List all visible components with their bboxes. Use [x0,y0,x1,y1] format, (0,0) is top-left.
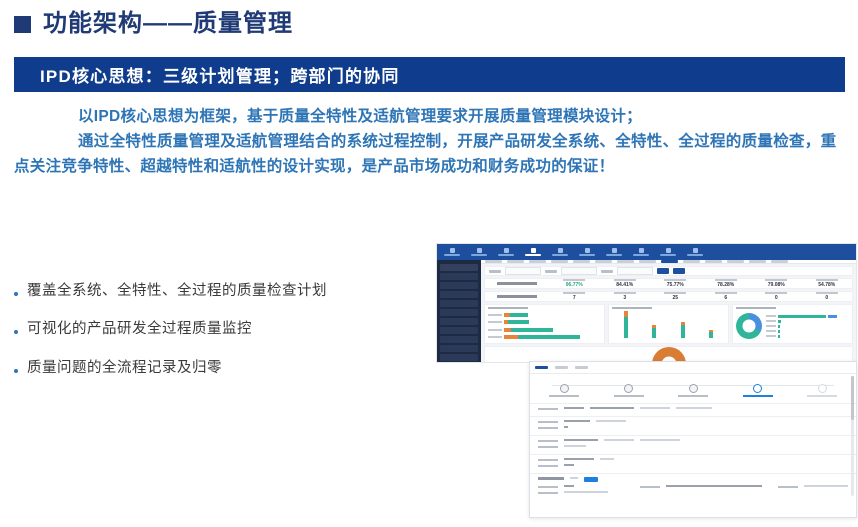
sidebar-item [440,318,478,325]
bar-row [488,320,601,324]
bar [624,311,628,338]
dashboard-top-nav [437,244,856,260]
bullet-dot-icon [14,330,18,334]
dashboard-body: 96.77% 84.41% 75.77% 78.28% 79.08% 54.78… [437,260,856,362]
stepper-step-current [732,384,784,397]
detail-row [538,491,848,494]
paragraph-line-1: 以IPD核心思想为框架，基于质量全特性及适航管理要求开展质量管理模块设计； [14,104,844,129]
filter-input [561,267,597,275]
kpi-cell: 6 [701,292,752,301]
detail-row [538,420,848,423]
detail-row [538,464,848,467]
step-dot-icon [753,384,762,393]
kpi-value: 0 [775,296,778,301]
kpi-value: 96.77% [566,283,583,288]
filter-input [617,267,653,275]
stepper-step [667,384,719,397]
step-dot-icon [560,384,569,393]
kpi-row-title [485,282,549,285]
top-nav-item [628,245,654,259]
section-banner: IPD核心思想：三级计划管理；跨部门的协同 [14,57,845,92]
filter-input [505,267,541,275]
dashboard-filter-bar [484,266,853,276]
top-nav-item [547,245,573,259]
kpi-cell: 75.77% [650,279,701,288]
dashboard-tab-active [661,260,678,263]
sidebar-item [440,291,478,298]
detail-section [530,416,856,435]
detail-section [530,403,856,416]
mini-bar-chart [766,315,849,338]
detail-section [530,454,856,473]
kpi-value: 6 [724,296,727,301]
sidebar-item [440,345,478,352]
kpi-cell: 25 [650,292,701,301]
detail-section [530,435,856,454]
detail-tab-bar [530,362,856,374]
kpi-cell: 54.78% [802,279,853,288]
kpi-row-rate: 96.77% 84.41% 75.77% 78.28% 79.08% 54.78… [484,278,853,289]
page-title-text: 功能架构——质量管理 [43,12,293,36]
list-item: 质量问题的全流程记录及归零 [14,360,434,377]
top-nav-item [655,245,681,259]
kpi-cell: 78.28% [701,279,752,288]
chart-title [488,307,528,309]
bar-row [766,320,849,323]
submit-button [584,477,598,482]
bar-row [766,335,849,338]
detail-tab-active [535,366,548,369]
list-item: 可视化的产品研发全过程质量监控 [14,321,434,338]
sidebar-item [440,336,478,343]
step-dot-icon [624,384,633,393]
top-nav-item-active [520,245,546,259]
kpi-value: 7 [573,296,576,301]
kpi-value: 75.77% [667,283,684,288]
donut-chart-panel [732,304,853,344]
bar-row [488,313,601,317]
list-item-label: 可视化的产品研发全过程质量监控 [27,321,252,338]
sidebar-item [440,282,478,289]
kpi-cell: 96.77% [549,279,600,288]
stepper-step [796,384,848,397]
detail-row [538,458,848,461]
search-button [657,268,669,274]
bar [681,322,685,338]
detail-section-comments [530,473,856,500]
bullet-dot-icon [14,369,18,373]
page-title: 功能架构——质量管理 [14,12,293,36]
detail-panel-scrollbar[interactable] [851,376,854,496]
kpi-cell: 0 [751,292,802,301]
kpi-row-title [485,295,549,298]
kpi-value: 79.08% [768,283,785,288]
top-nav-item [601,245,627,259]
bar [652,325,656,338]
top-nav-item [439,245,465,259]
kpi-cell: 79.08% [751,279,802,288]
chart-title [736,307,776,309]
slide-root: 功能架构——质量管理 IPD核心思想：三级计划管理；跨部门的协同 以IPD核心思… [0,0,858,527]
reset-button [673,268,685,274]
sidebar-item [440,354,478,361]
detail-row [538,407,848,410]
dashboard-screenshot: 96.77% 84.41% 75.77% 78.28% 79.08% 54.78… [436,243,857,363]
detail-row [538,477,848,482]
detail-row [538,439,848,442]
horizontal-stacked-bar-chart [484,304,605,344]
kpi-value: 3 [623,296,626,301]
kpi-value: 84.41% [616,283,633,288]
bar-row [488,328,601,332]
stepper-step [603,384,655,397]
detail-row [538,485,848,488]
bar [709,330,713,338]
bar-row [766,325,849,328]
kpi-cell: 3 [600,292,651,301]
kpi-value: 0 [825,296,828,301]
section-banner-text: IPD核心思想：三级计划管理；跨部门的协同 [40,62,400,87]
sidebar-item [440,264,478,271]
sidebar-item [440,309,478,316]
top-nav-item [466,245,492,259]
bullet-dot-icon [14,292,18,296]
sidebar-item [440,327,478,334]
donut-chart [736,313,762,339]
detail-tab [575,366,588,369]
dashboard-sidebar [437,260,481,362]
top-nav-item [574,245,600,259]
kpi-cell: 7 [549,292,600,301]
kpi-value: 78.28% [717,283,734,288]
vertical-bar-chart [608,304,729,344]
bar-row [488,335,601,339]
dashboard-main: 96.77% 84.41% 75.77% 78.28% 79.08% 54.78… [481,260,856,362]
dashboard-chart-row [484,304,853,344]
step-dot-icon [689,384,698,393]
square-bullet-icon [14,16,31,33]
progress-stepper [538,377,848,403]
kpi-cell: 0 [802,292,853,301]
paragraph-line-2: 通过全特性质量管理及适航管理结合的系统过程控制，开展产品研发全系统、全特性、全过… [14,129,844,179]
top-nav-item [493,245,519,259]
dashboard-tab-bar [481,260,856,264]
step-dot-icon [818,384,827,393]
bar-row [766,315,849,318]
top-nav-item [682,245,708,259]
detail-row [538,445,848,448]
list-item: 覆盖全系统、全特性、全过程的质量检查计划 [14,283,434,300]
chart-title [612,307,652,309]
list-item-label: 质量问题的全流程记录及归零 [27,360,222,377]
quality-issue-detail-panel [529,361,857,518]
stepper-step [538,384,590,397]
bar-row [766,330,849,333]
kpi-cell: 84.41% [600,279,651,288]
body-paragraph: 以IPD核心思想为框架，基于质量全特性及适航管理要求开展质量管理模块设计； 通过… [14,104,844,179]
feature-bullet-list: 覆盖全系统、全特性、全过程的质量检查计划 可视化的产品研发全过程质量监控 质量问… [14,283,434,398]
sidebar-item [440,273,478,280]
sidebar-item [440,300,478,307]
kpi-value: 54.78% [818,283,835,288]
kpi-row-count: 7 3 25 6 0 0 [484,291,853,302]
kpi-value: 25 [672,296,678,301]
detail-row [538,426,848,429]
detail-tab [555,366,568,369]
list-item-label: 覆盖全系统、全特性、全过程的质量检查计划 [27,283,327,300]
